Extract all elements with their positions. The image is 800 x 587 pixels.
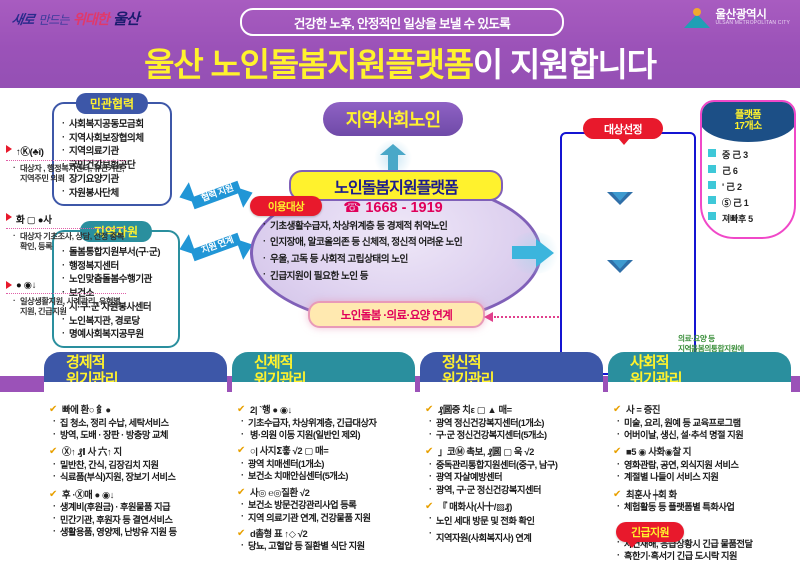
group-head: 최훈사 ┿회 화 — [612, 490, 787, 500]
group-item: 미술, 요리, 원예 등 교육프로그램 — [612, 415, 787, 427]
group-item: 체험활동 등 플랫폼별 특화사업 — [612, 500, 787, 512]
header-subtitle-text: 건강한 노후, 안정적인 일상을 보낼 수 있도록 — [294, 13, 510, 32]
group-head: 사 = 증진 — [612, 405, 787, 415]
resource-link-arrow: 지원 연계 — [181, 230, 251, 264]
selection-process-box — [560, 132, 696, 375]
group-item: 기초수급자, 차상위계층, 긴급대상자 — [236, 415, 411, 427]
chevron-down-icon — [607, 260, 633, 273]
selection-tag: 대상선정 — [583, 118, 663, 139]
up-arrow-icon — [379, 144, 407, 170]
list-item: 긴급지원이 필요한 노인 등 — [263, 268, 531, 285]
emergency-support-tag: 긴급지원 — [616, 522, 684, 542]
group-item: 지역 의료기관 연계, 건강물품 지원 — [236, 510, 411, 522]
selection-step-3-body: 일상생활지원, 사례관리, 유형별 지원, 긴급지원 — [6, 294, 126, 318]
care-link-label: 노인돌봄 ·의료·요양 연계 — [341, 307, 452, 323]
panel-social: 사회적 위기관리 사 = 증진 미술, 요리, 원예 등 교육프로그램 어버이날… — [608, 352, 791, 564]
group-item: 어버이날, 생신, 설·추석 명절 지원 — [612, 428, 787, 440]
group-item: 방역, 도배 · 장판 · 방충망 교체 — [48, 428, 223, 440]
panel-group: ₰囻중 치ε ▢ ▲ 매= 광역 정신건강복지센터(1개소) 구·군 정신건강복… — [420, 405, 603, 440]
group-item: 생계비(후원금) · 후원물품 지급 — [48, 500, 223, 512]
platform-name-pill: 노인돌봄지원플랫폼 — [289, 170, 503, 201]
panel-group: Ⓧ↑ ₰Ⅰ 사 六↑ 지 밑반찬, 간식, 김장김치 지원 식료품(부식)지원,… — [44, 447, 227, 482]
group-item: 노인 세대 방문 및 전화 확인 — [424, 512, 599, 526]
panel-physical: 신체적 위기관리 2| `행 ● ◉↓ 기초수급자, 차상위계층, 긴급대상자 … — [232, 352, 415, 564]
platform-count-title: 플랫폼 — [735, 110, 761, 122]
use-target-list: 기초생활수급자, 차상위계층 등 경제적 취약노인 인지장애, 알코올의존 등 … — [263, 218, 531, 285]
panel-mental-body: ₰囻중 치ε ▢ ▲ 매= 광역 정신건강복지센터(1개소) 구·군 정신건강복… — [420, 382, 603, 587]
panel-group: 사◎ ℮◎질환 √2 보건소 방문건강관리사업 등록 지역 의료기관 연계, 건… — [232, 488, 415, 523]
group-item: 지역자원(사회복지사) 연계 — [424, 527, 599, 543]
group-item: 광역 치매센터(1개소) — [236, 457, 411, 469]
panel-social-title-1: 사회적 — [630, 355, 682, 372]
group-item: 밑반찬, 간식, 김장김치 지원 — [48, 458, 223, 470]
group-head: 『 매화사(사十/▨₰) — [424, 502, 599, 512]
group-item: 광역, 구·군 정신건강복지센터 — [424, 483, 599, 495]
panel-economic-title-1: 경제적 — [66, 355, 118, 372]
poster-root: 새로 만드는 위대한 울산 건강한 노후, 안정적인 일상을 보낼 수 있도록 … — [0, 0, 800, 566]
group-head: 2| `행 ● ◉↓ — [236, 405, 411, 415]
ulsan-mountain-icon — [684, 8, 710, 28]
right-arrow-icon — [512, 238, 558, 268]
page-title-rest: 이 지원합니다 — [473, 46, 656, 83]
selection-step-2-head: 화 ▢ ●사 — [6, 212, 126, 229]
group-item: 보건소 치매안심센터(5개소) — [236, 469, 411, 481]
panel-group: 」코Ⓜ 촉보, ₰囻 ▢ 욱 √2 중독관리통합지원센터(중구, 남구) 광역 … — [420, 447, 603, 495]
group-item: 광역 정신건강복지센터(1개소) — [424, 415, 599, 427]
group-item: 당뇨, 고혈압 등 질환별 식단 지원 — [236, 539, 411, 551]
platform-count-number: 17개소 — [734, 121, 761, 133]
ulsan-slogan-logo: 새로 만드는 위대한 울산 — [12, 8, 172, 34]
group-item: 병·의원 이동 지원(일반인 제외) — [236, 428, 411, 440]
panel-group: 사 = 증진 미술, 요리, 원예 등 교육프로그램 어버이날, 생신, 설·추… — [608, 405, 791, 440]
panel-economic: 경제적 위기관리 빠에 환○ 釒● 집 청소, 정리 수납, 세탁서비스 방역,… — [44, 352, 227, 564]
city-name-en: ULSAN METROPOLITAN CITY — [715, 21, 790, 26]
ulsan-city-logo: 울산광역시 ULSAN METROPOLITAN CITY — [684, 8, 790, 28]
poster-body: 민관협력 사회복지공동모금회 지역사회보장협의체 지역의료기관 국민건강보험공단… — [0, 88, 800, 566]
list-item: 행정복지센터 — [62, 260, 172, 274]
slogan-word-4: 울산 — [113, 11, 139, 28]
slogan-word-2: 만드는 — [38, 13, 68, 27]
selection-tag-label: 대상선정 — [604, 121, 642, 137]
page-title: 울산 노인돌봄지원플랫폼이 지원합니다 — [0, 38, 800, 86]
panel-group: 후 ·Ⓧ매 ● ◉↓ 생계비(후원금) · 후원물품 지급 민간기관, 후원자 … — [44, 490, 227, 538]
cooperation-arrow: 협력 지원 — [181, 178, 251, 212]
panel-group: ■5 ◉ 사화◉찰 지 영화관람, 공연, 외식지원 서비스 계절별 나들이 서… — [608, 447, 791, 482]
slogan-word-1: 새로 — [10, 9, 35, 28]
group-head: ₰囻중 치ε ▢ ▲ 매= — [424, 405, 599, 415]
group-item: 광역 자살예방센터 — [424, 470, 599, 482]
group-head: 빠에 환○ 釒● — [48, 405, 223, 415]
group-item: 계절별 나들이 서비스 지원 — [612, 470, 787, 482]
resource-link-arrow-label: 지원 연계 — [192, 230, 242, 259]
community-elderly-pill: 지역사회노인 — [323, 102, 463, 136]
panel-mental-title-1: 정신적 — [442, 355, 494, 372]
selection-step-1-body: 대상자 , 행정복지센터, 유관기관, 지역주민 의뢰 — [6, 161, 126, 185]
group-item: 민간기관, 후원자 등 결연서비스 — [48, 512, 223, 524]
community-elderly-label: 지역사회노인 — [346, 106, 441, 132]
list-item: 인지장애, 알코올의존 등 신체적, 정신적 어려운 노인 — [263, 235, 531, 252]
group-head: 사◎ ℮◎질환 √2 — [236, 488, 411, 498]
list-item: 기초생활수급자, 차상위계층 등 경제적 취약노인 — [263, 218, 531, 235]
platform-count-header: 플랫폼 17개소 — [700, 100, 796, 142]
use-target-tag: 이용대상 — [250, 196, 322, 216]
selection-step-1: ↑Ⓚ(♣î) 대상자 , 행정복지센터, 유관기관, 지역주민 의뢰 — [6, 144, 126, 185]
partnership-caption: 민관협력 — [76, 93, 148, 114]
list-item: 자원봉사단체 — [62, 186, 164, 200]
slogan-word-3: 위대한 — [73, 11, 109, 27]
selection-step-3-head: ● ◉↓ — [6, 280, 126, 294]
chevron-down-icon — [607, 192, 633, 205]
panel-social-body: 사 = 증진 미술, 요리, 원예 등 교육프로그램 어버이날, 생신, 설·추… — [608, 382, 791, 587]
group-item: 식료품(부식)지원, 장보기 서비스 — [48, 470, 223, 482]
selection-step-2: 화 ▢ ●사 대상자 기초조사, 상담, 선정 중복 확인, 등록 — [6, 212, 126, 253]
group-item: 생활용품, 영양제, 난방유 지원 등 — [48, 525, 223, 537]
list-item: 사회복지공동모금회 — [62, 118, 164, 132]
panel-physical-title-1: 신체적 — [254, 355, 306, 372]
group-head: ○| 사지𝝨흫 √2 ▢ 매= — [236, 446, 411, 456]
group-head: ■5 ◉ 사화◉찰 지 — [612, 447, 787, 457]
page-title-highlight: 울산 노인돌봄지원플랫폼 — [144, 46, 473, 83]
panel-group: 『 매화사(사十/▨₰) 노인 세대 방문 및 전화 확인 지역자원(사회복지사… — [420, 502, 603, 543]
platform-name-label: 노인돌봄지원플랫폼 — [334, 174, 457, 198]
cooperation-arrow-label: 협력 지원 — [192, 178, 242, 207]
panel-physical-body: 2| `행 ● ◉↓ 기초수급자, 차상위계층, 긴급대상자 병·의원 이동 지… — [232, 382, 415, 587]
list-item: Ⓢ 己 1 — [708, 195, 794, 211]
selection-step-3: ● ◉↓ 일상생활지원, 사례관리, 유형별 지원, 긴급지원 — [6, 280, 126, 318]
panel-group: 빠에 환○ 釒● 집 청소, 정리 수납, 세탁서비스 방역, 도배 · 장판 … — [44, 405, 227, 440]
use-target-tag-label: 이용대상 — [268, 199, 304, 214]
group-head: d촘형 표 ↑◇ √2 — [236, 529, 411, 539]
list-item: 명예사회복지공무원 — [62, 328, 172, 342]
list-item: 우울, 고독 등 사회적 고립상태의 노인 — [263, 252, 531, 269]
care-link-pill: 노인돌봄 ·의료·요양 연계 — [308, 301, 485, 328]
panel-group: ○| 사지𝝨흫 √2 ▢ 매= 광역 치매센터(1개소) 보건소 치매안심센터(… — [232, 446, 415, 481]
group-item: 영화관람, 공연, 외식지원 서비스 — [612, 458, 787, 470]
group-head: 후 ·Ⓧ매 ● ◉↓ — [48, 490, 223, 500]
group-item: 중독관리통합지원센터(중구, 남구) — [424, 458, 599, 470]
group-item: 보건소 방문건강관리사업 등록 — [236, 498, 411, 510]
page-header: 새로 만드는 위대한 울산 건강한 노후, 안정적인 일상을 보낼 수 있도록 … — [0, 0, 800, 88]
selection-step-2-body: 대상자 기초조사, 상담, 선정 중복 확인, 등록 — [6, 229, 126, 253]
group-item: 집 청소, 정리 수납, 세탁서비스 — [48, 415, 223, 427]
panel-economic-body: 빠에 환○ 釒● 집 청소, 정리 수납, 세탁서비스 방역, 도배 · 장판 … — [44, 382, 227, 587]
selection-step-1-head: ↑Ⓚ(♣î) — [6, 144, 126, 161]
group-item: 혹한기·혹서기 긴급 도시락 지원 — [612, 549, 787, 561]
group-head: Ⓧ↑ ₰Ⅰ 사 六↑ 지 — [48, 447, 223, 457]
group-head: 」코Ⓜ 촉보, ₰囻 ▢ 욱 √2 — [424, 447, 599, 457]
panel-group: 2| `행 ● ◉↓ 기초수급자, 차상위계층, 긴급대상자 병·의원 이동 지… — [232, 405, 415, 440]
list-item: 중 己 3 — [708, 148, 794, 164]
list-item: 己 6 — [708, 164, 794, 180]
list-item: 져빠후 5 — [708, 211, 794, 227]
emergency-support-label: 긴급지원 — [631, 524, 669, 540]
platform-count-box: 플랫폼 17개소 중 己 3 己 6 ' 己 2 Ⓢ 己 1 져빠후 5 — [700, 100, 796, 239]
panel-mental: 정신적 위기관리 ₰囻중 치ε ▢ ▲ 매= 광역 정신건강복지센터(1개소) … — [420, 352, 603, 564]
panel-group: 최훈사 ┿회 화 체험활동 등 플랫폼별 특화사업 — [608, 490, 791, 513]
list-item: ' 己 2 — [708, 180, 794, 196]
group-item: 구·군 정신건강복지센터(5개소) — [424, 428, 599, 440]
panel-group: d촘형 표 ↑◇ √2 당뇨, 고혈압 등 질환별 식단 지원 — [232, 529, 415, 552]
header-subtitle-pill: 건강한 노후, 안정적인 일상을 보낼 수 있도록 — [240, 8, 564, 36]
